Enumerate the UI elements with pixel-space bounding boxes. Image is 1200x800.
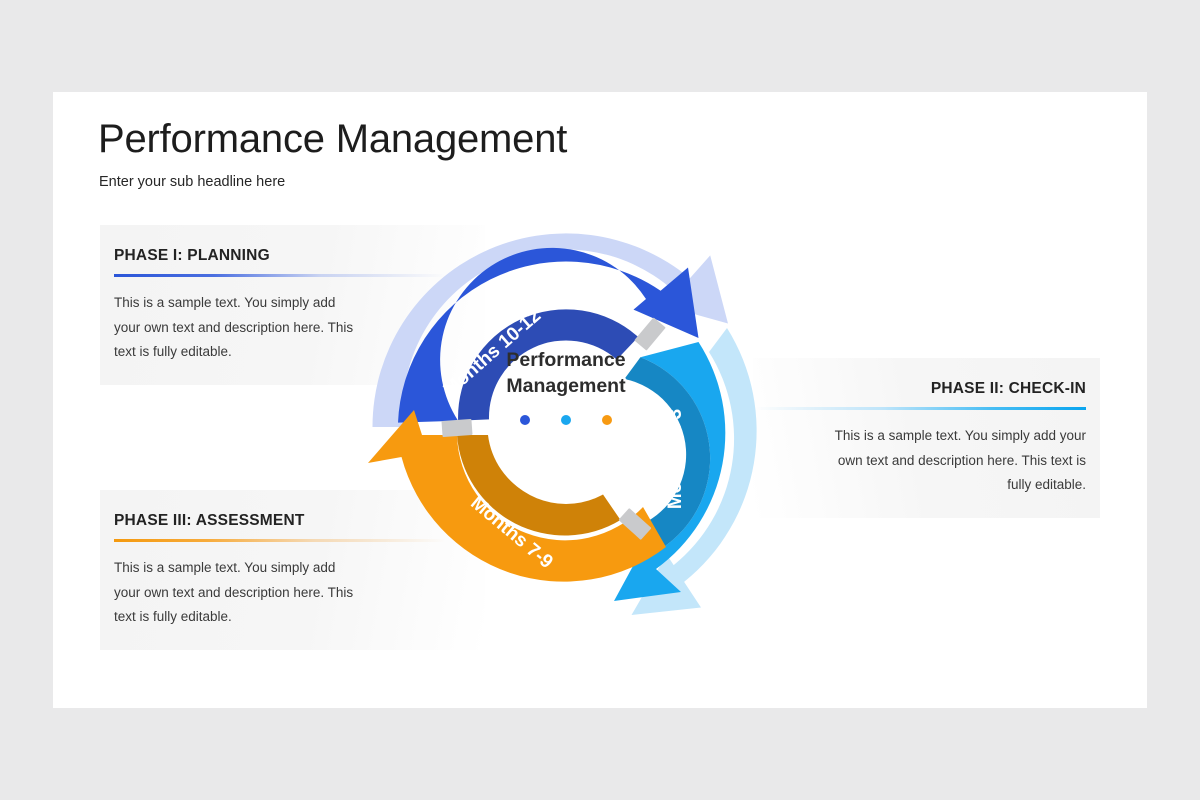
phase-panel-checkin[interactable]: PHASE II: CHECK-IN This is a sample text… (753, 358, 1100, 518)
phase-1-body: This is a sample text. You simply add yo… (114, 291, 359, 365)
phase-3-body: This is a sample text. You simply add yo… (114, 556, 364, 630)
hub-dot-group (336, 415, 796, 425)
page-subtitle: Enter your sub headline here (99, 174, 285, 190)
phase-2-body: This is a sample text. You simply add yo… (826, 424, 1086, 498)
cycle-diagram: Months 10-12 Months 1-3 Months 7-9 Perfo… (336, 197, 796, 657)
center-hub (489, 350, 643, 504)
connector-block-top (634, 317, 666, 350)
phase-2-heading: PHASE II: CHECK-IN (753, 380, 1086, 398)
hub-dot-2 (561, 415, 571, 425)
phase-2-underline (756, 407, 1086, 410)
cycle-diagram-svg: Months 10-12 Months 1-3 Months 7-9 (336, 197, 796, 657)
slide-canvas: Performance Management Enter your sub he… (53, 92, 1147, 708)
hub-dot-1 (520, 415, 530, 425)
hub-dot-3 (602, 415, 612, 425)
page-title: Performance Management (98, 117, 567, 162)
